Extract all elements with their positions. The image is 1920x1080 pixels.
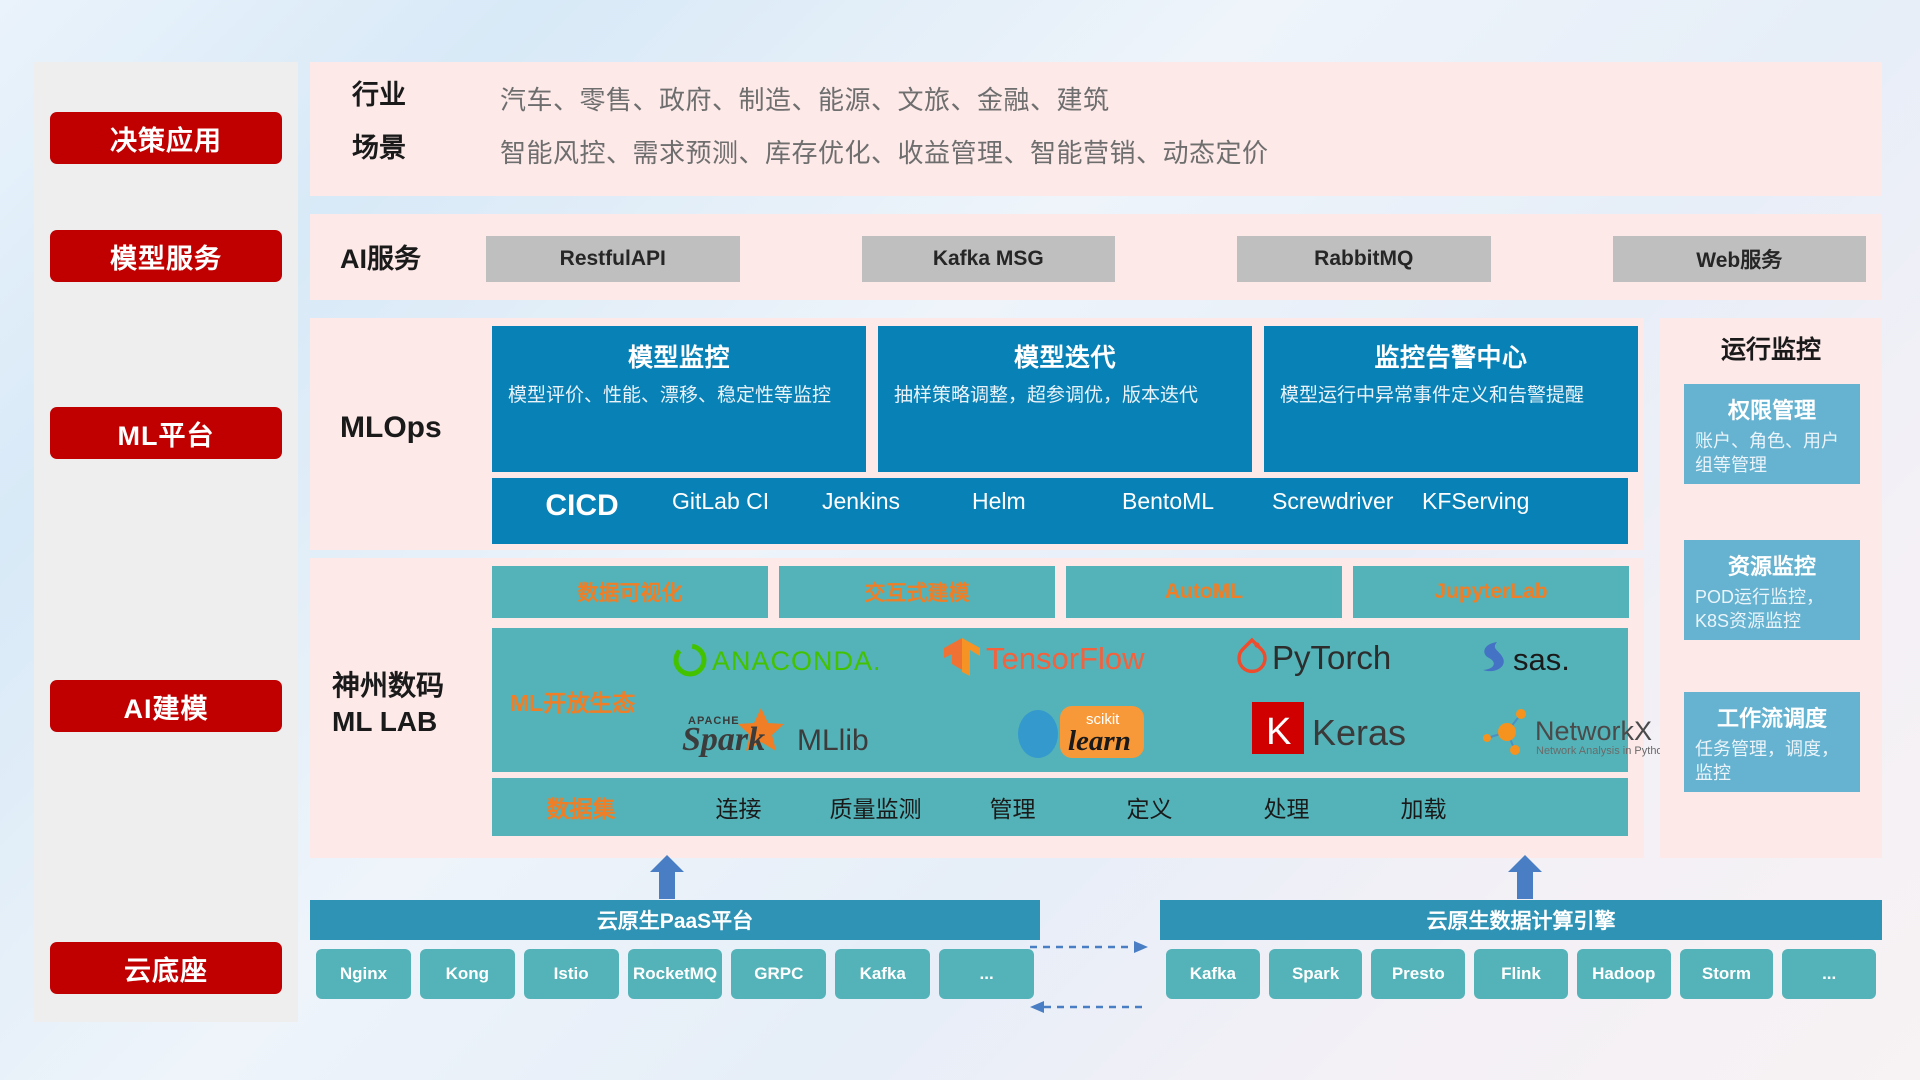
monitor-card-desc: 任务管理，调度，监控 xyxy=(1695,738,1849,786)
mlops-card-list: 模型监控 模型评价、性能、漂移、稳定性等监控 模型迭代 抽样策略调整，超参调优，… xyxy=(492,326,1638,472)
tool-chip-jupyterlab[interactable]: JupyterLab xyxy=(1353,566,1629,618)
ml-lab-tool-list: 数据可视化 交互式建模 AutoML JupyterLab xyxy=(492,566,1629,618)
cicd-bar: CICD GitLab CI Jenkins Helm BentoML Scre… xyxy=(492,478,1628,544)
stage-chip-model-service[interactable]: 模型服务 xyxy=(50,230,282,282)
dataset-title: 数据集 xyxy=(492,790,670,824)
mlops-card-model-iteration[interactable]: 模型迭代 抽样策略调整，超参调优，版本迭代 xyxy=(878,326,1252,472)
industry-label: 行业 xyxy=(352,79,406,112)
cloud-data-engine-chip-list: Kafka Spark Presto Flink Hadoop Storm ..… xyxy=(1160,940,1882,1009)
cloud-chip-istio[interactable]: Istio xyxy=(524,949,619,999)
svg-text:Network Analysis in Python: Network Analysis in Python xyxy=(1536,745,1669,757)
mlops-card-title: 模型迭代 xyxy=(894,338,1236,374)
tool-chip-interactive-modeling[interactable]: 交互式建模 xyxy=(779,566,1055,618)
pytorch-logo: PyTorch xyxy=(1234,634,1454,685)
up-arrow-icon xyxy=(1508,855,1542,899)
scenario-value: 智能风控、需求预测、库存优化、收益管理、智能营销、动态定价 xyxy=(500,133,1269,170)
stage-chip-ml-platform[interactable]: ML平台 xyxy=(50,407,282,459)
cloud-native-paas-group: 云原生PaaS平台 Nginx Kong Istio RocketMQ GRPC… xyxy=(310,900,1040,1009)
cicd-item-jenkins[interactable]: Jenkins xyxy=(822,487,972,516)
tensorflow-logo: TensorFlow xyxy=(942,634,1207,685)
svg-text:PyTorch: PyTorch xyxy=(1272,639,1391,676)
anaconda-logo: ANACONDA. xyxy=(670,640,920,685)
keras-logo: K Keras xyxy=(1252,700,1452,763)
mlops-card-title: 模型监控 xyxy=(508,338,850,374)
industry-value: 汽车、零售、政府、制造、能源、文旅、金融、建筑 xyxy=(500,80,1110,117)
monitor-card-title: 工作流调度 xyxy=(1695,701,1849,733)
cloud-chip-presto[interactable]: Presto xyxy=(1371,949,1465,999)
ai-service-chip-rabbitmq[interactable]: RabbitMQ xyxy=(1237,236,1491,282)
tool-chip-data-visualization[interactable]: 数据可视化 xyxy=(492,566,768,618)
svg-text:TensorFlow: TensorFlow xyxy=(986,641,1145,676)
svg-text:Spark: Spark xyxy=(682,721,765,758)
cloud-chip-more[interactable]: ... xyxy=(939,949,1034,999)
monitor-card-resource[interactable]: 资源监控 POD运行监控，K8S资源监控 xyxy=(1684,540,1860,640)
stage-rail xyxy=(34,62,298,1022)
ml-ecosystem-block: ML开放生态 ANACONDA. TensorFlow PyTorch xyxy=(492,628,1628,772)
ai-service-chip-kafka-msg[interactable]: Kafka MSG xyxy=(862,236,1116,282)
cloud-chip-flink[interactable]: Flink xyxy=(1474,949,1568,999)
stage-chip-ai-modeling[interactable]: AI建模 xyxy=(50,680,282,732)
mlops-card-desc: 抽样策略调整，超参调优，版本迭代 xyxy=(894,383,1236,408)
monitor-card-desc: 账户、角色、用户组等管理 xyxy=(1695,430,1849,478)
cloud-chip-kafka[interactable]: Kafka xyxy=(835,949,930,999)
mlops-card-alert-center[interactable]: 监控告警中心 模型运行中异常事件定义和告警提醒 xyxy=(1264,326,1638,472)
scikit-learn-logo: scikit learn xyxy=(1012,702,1187,767)
monitor-card-permission[interactable]: 权限管理 账户、角色、用户组等管理 xyxy=(1684,384,1860,484)
dataset-item-load[interactable]: 加载 xyxy=(1355,790,1492,824)
mlops-card-title: 监控告警中心 xyxy=(1280,338,1622,374)
cloud-paas-title: 云原生PaaS平台 xyxy=(310,900,1040,940)
mlops-label: MLOps xyxy=(340,410,442,447)
dashed-arrow-left-icon xyxy=(1030,1000,1148,1012)
cloud-native-data-engine-group: 云原生数据计算引擎 Kafka Spark Presto Flink Hadoo… xyxy=(1160,900,1882,1009)
svg-text:Keras: Keras xyxy=(1312,712,1406,753)
cloud-chip-hadoop[interactable]: Hadoop xyxy=(1577,949,1671,999)
ai-service-chip-web-service[interactable]: Web服务 xyxy=(1613,236,1867,282)
dataset-item-connect[interactable]: 连接 xyxy=(670,790,807,824)
cloud-chip-more[interactable]: ... xyxy=(1782,949,1876,999)
ml-lab-label: 神州数码 ML LAB xyxy=(332,668,444,740)
up-arrow-icon xyxy=(650,855,684,899)
cicd-item-screwdriver[interactable]: Screwdriver xyxy=(1272,487,1422,516)
cloud-data-engine-title: 云原生数据计算引擎 xyxy=(1160,900,1882,940)
svg-text:NetworkX: NetworkX xyxy=(1535,716,1652,746)
cicd-title: CICD xyxy=(492,487,672,525)
cloud-chip-kong[interactable]: Kong xyxy=(420,949,515,999)
dashed-arrow-right-icon xyxy=(1030,940,1148,952)
cicd-item-kfserving[interactable]: KFServing xyxy=(1422,487,1572,516)
cloud-chip-nginx[interactable]: Nginx xyxy=(316,949,411,999)
svg-text:MLlib: MLlib xyxy=(797,724,869,757)
svg-text:K: K xyxy=(1266,711,1291,753)
scenario-label: 场景 xyxy=(352,132,406,165)
sas-logo: sas. xyxy=(1477,638,1622,683)
stage-chip-cloud-base[interactable]: 云底座 xyxy=(50,942,282,994)
svg-text:ANACONDA.: ANACONDA. xyxy=(712,646,882,676)
dataset-item-manage[interactable]: 管理 xyxy=(944,790,1081,824)
cicd-item-gitlab-ci[interactable]: GitLab CI xyxy=(672,487,822,516)
cicd-item-helm[interactable]: Helm xyxy=(972,487,1122,516)
monitor-card-title: 权限管理 xyxy=(1695,393,1849,425)
monitor-card-desc: POD运行监控，K8S资源监控 xyxy=(1695,586,1849,634)
cicd-item-bentoml[interactable]: BentoML xyxy=(1122,487,1272,516)
runtime-monitor-title: 运行监控 xyxy=(1660,330,1882,366)
svg-text:sas.: sas. xyxy=(1513,642,1570,677)
cloud-chip-storm[interactable]: Storm xyxy=(1680,949,1774,999)
dataset-bar: 数据集 连接 质量监测 管理 定义 处理 加载 xyxy=(492,778,1628,836)
architecture-diagram: 决策应用 模型服务 ML平台 AI建模 云底座 行业 汽车、零售、政府、制造、能… xyxy=(0,0,1920,1080)
cloud-paas-chip-list: Nginx Kong Istio RocketMQ GRPC Kafka ... xyxy=(310,940,1040,1009)
mlops-card-model-monitoring[interactable]: 模型监控 模型评价、性能、漂移、稳定性等监控 xyxy=(492,326,866,472)
stage-chip-decision-app[interactable]: 决策应用 xyxy=(50,112,282,164)
cloud-chip-rocketmq[interactable]: RocketMQ xyxy=(628,949,723,999)
ai-service-chip-list: RestfulAPI Kafka MSG RabbitMQ Web服务 xyxy=(486,236,1866,282)
monitor-card-title: 资源监控 xyxy=(1695,549,1849,581)
tool-chip-automl[interactable]: AutoML xyxy=(1066,566,1342,618)
ai-service-label: AI服务 xyxy=(340,243,421,276)
cloud-chip-kafka[interactable]: Kafka xyxy=(1166,949,1260,999)
dataset-item-quality-monitoring[interactable]: 质量监测 xyxy=(807,790,944,824)
cloud-chip-spark[interactable]: Spark xyxy=(1269,949,1363,999)
ai-service-chip-restfulapi[interactable]: RestfulAPI xyxy=(486,236,740,282)
cloud-chip-grpc[interactable]: GRPC xyxy=(731,949,826,999)
spark-mllib-logo: APACHE Spark MLlib xyxy=(664,704,929,767)
mlops-card-desc: 模型运行中异常事件定义和告警提醒 xyxy=(1280,383,1622,408)
ml-ecosystem-label: ML开放生态 xyxy=(510,684,635,718)
mlops-card-desc: 模型评价、性能、漂移、稳定性等监控 xyxy=(508,383,850,408)
monitor-card-workflow[interactable]: 工作流调度 任务管理，调度，监控 xyxy=(1684,692,1860,792)
dataset-item-process[interactable]: 处理 xyxy=(1218,790,1355,824)
dataset-item-define[interactable]: 定义 xyxy=(1081,790,1218,824)
svg-text:learn: learn xyxy=(1068,725,1131,757)
